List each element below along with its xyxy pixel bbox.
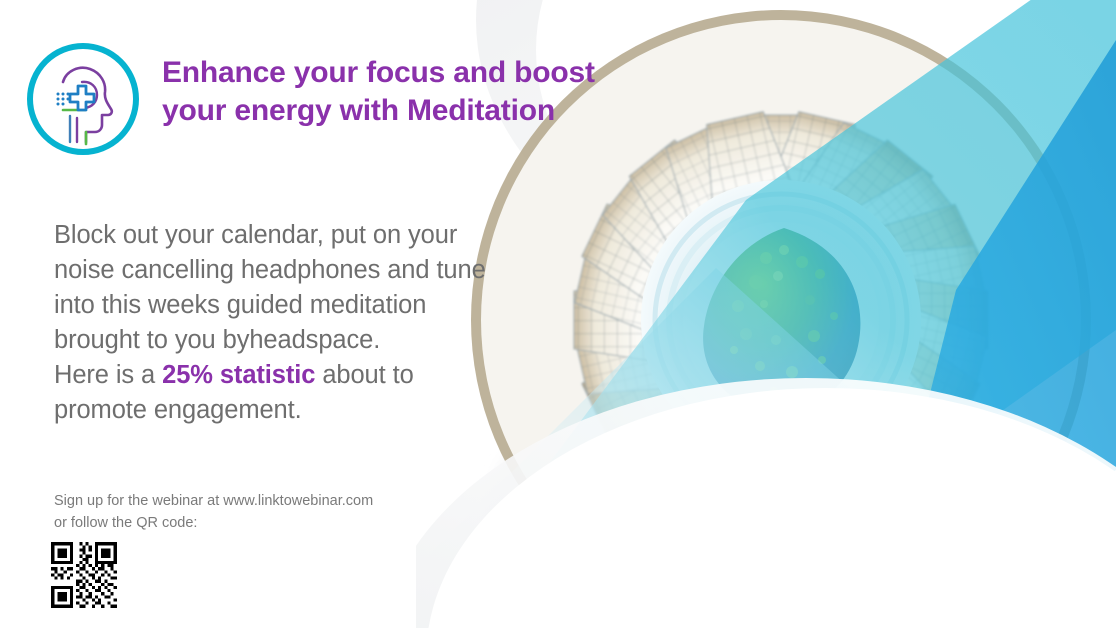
statistic-highlight: 25% statistic [162,361,315,389]
signup-line-1: Sign up for the webinar at www.linktoweb… [54,493,373,509]
body-line-3: into this weeks guided meditation [54,291,426,319]
body-line-1: Block out your calendar, put on your [54,221,457,249]
header-row: Enhance your focus and boost your energy… [22,38,595,160]
body-line-4: brought to you byheadspace. [54,326,380,354]
qr-code[interactable] [45,536,123,614]
body-line-2: noise cancelling headphones and tune [54,256,486,284]
headline-line-1: Enhance your focus and boost [162,56,595,89]
content-column: Enhance your focus and boost your energy… [0,0,660,628]
body-line-6: promote engagement. [54,396,302,424]
body-copy: Block out your calendar, put on your noi… [54,218,614,428]
qr-code-image[interactable] [45,536,123,614]
headline-line-2: your energy with Meditation [162,94,555,127]
page-title: Enhance your focus and boost your energy… [162,54,595,130]
banner-root: Enhance your focus and boost your energy… [0,0,1116,628]
head-with-medical-cross-icon [22,38,144,160]
signup-text: Sign up for the webinar at www.linktoweb… [54,490,373,534]
body-line-5-prefix: Here is a [54,361,162,389]
signup-line-2: or follow the QR code: [54,515,197,531]
body-line-5-suffix: about to [315,361,413,389]
